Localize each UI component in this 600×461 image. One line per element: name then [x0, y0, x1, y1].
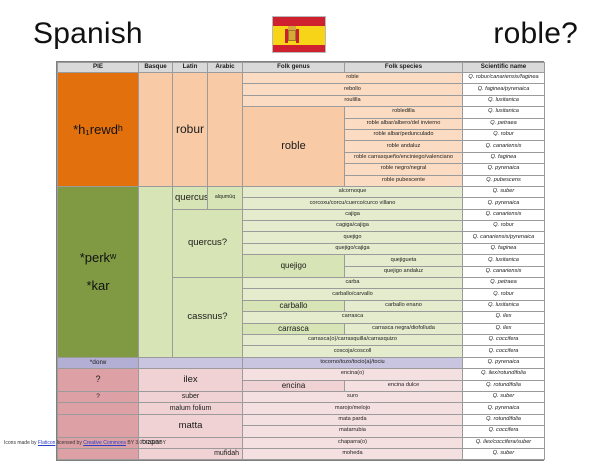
folk-species-cell: roble albar/albero/del invierno: [345, 118, 463, 129]
page-header: Spanish roble?: [0, 0, 600, 58]
arabic-cell-alqurnuq: alqurnūq: [208, 186, 243, 209]
folk-species-cell: chaparra(o): [243, 437, 463, 448]
scientific-name-cell: Q. robur: [463, 289, 545, 300]
arabic-cell-mufidah: mufidah: [139, 448, 243, 459]
spain-flag-icon: [272, 16, 326, 53]
folk-species-cell: roble andaluz: [345, 141, 463, 152]
column-header-arabic: Arabic: [208, 63, 243, 73]
latin-cell-suber: suber: [139, 391, 243, 402]
latin-cell-quercus-q: quercus?: [173, 209, 243, 277]
basque-cell-empty: [139, 186, 173, 357]
coat-of-arms-icon: [285, 29, 299, 43]
folk-species-cell: quejigueta: [345, 255, 463, 266]
scientific-name-cell: Q. pyrenaica: [463, 198, 545, 209]
folk-species-cell: coscoja/coscoll: [243, 346, 463, 357]
scientific-name-cell: Q. faginea: [463, 243, 545, 254]
scientific-name-cell: Q. coccifera: [463, 426, 545, 437]
scientific-name-cell: Q. canariensis: [463, 141, 545, 152]
pie-root-cell-empty: [58, 403, 139, 414]
column-header-folk-species: Folk species: [345, 63, 463, 73]
column-header-folk-genus: Folk genus: [243, 63, 345, 73]
page-title-language: Spanish: [33, 17, 143, 51]
scientific-name-cell: Q. canariensis: [463, 209, 545, 220]
scientific-name-cell: Q. coccifera: [463, 334, 545, 345]
scientific-name-cell: Q. pubescens: [463, 175, 545, 186]
folk-species-cell: alcornoque: [243, 186, 463, 197]
footer-middle: licensed by: [55, 440, 83, 446]
scientific-name-cell: Q. ilex/rotundifolia: [463, 369, 545, 380]
folk-genus-cell: carrasca: [243, 323, 345, 334]
folk-species-cell: quejigo: [243, 232, 463, 243]
pie-root-cell-empty: [58, 414, 139, 437]
latin-cell-matta: matta: [139, 414, 243, 437]
footer-prefix: Icons made by: [4, 440, 38, 446]
column-header-basque: Basque: [139, 63, 173, 73]
table-row: *h₁rewdʰ robur roble Q. robur/canariensi…: [58, 73, 545, 84]
folk-species-cell: robledilla: [345, 107, 463, 118]
basque-cell-empty: [139, 73, 173, 187]
folk-genus-cell: carballo: [243, 300, 345, 311]
table-row: *dorw tocorno/tozo/tocio(a)/tociu Q. pyr…: [58, 357, 545, 368]
scientific-name-cell: Q. lusitanica: [463, 95, 545, 106]
folk-species-cell: matarrubia: [243, 426, 463, 437]
pie-root-cell: ?: [58, 391, 139, 402]
folk-species-cell: cagiga/cajiga: [243, 221, 463, 232]
scientific-name-cell: Q. coccifera: [463, 346, 545, 357]
folk-species-cell: carballo/carvallo: [243, 289, 463, 300]
folk-species-cell: marojo/melojo: [243, 403, 463, 414]
flag-yellow-band: [273, 26, 325, 45]
scientific-name-cell: Q. lusitanica: [463, 300, 545, 311]
arabic-cell-empty: [208, 73, 243, 187]
scientific-name-cell: Q. lusitanica: [463, 255, 545, 266]
scientific-name-cell: Q. faginea: [463, 152, 545, 163]
table-row: malum folium marojo/melojo Q. pyrenaica: [58, 403, 545, 414]
latin-cell: robur: [173, 73, 208, 187]
pie-root-perkw: *perkʷ: [60, 251, 136, 265]
column-header-latin: Latin: [173, 63, 208, 73]
scientific-name-cell: Q. faginea/pyrenaica: [463, 84, 545, 95]
scientific-name-cell: Q. pyrenaica: [463, 403, 545, 414]
scientific-name-cell: Q. robur/canariensis/faginea: [463, 73, 545, 84]
pie-root-kar: *kar: [60, 279, 136, 293]
pie-root-cell: *perkʷ *kar: [58, 186, 139, 357]
pie-root-cell: *h₁rewdʰ: [58, 73, 139, 187]
folk-species-cell: cajiga: [243, 209, 463, 220]
pillar-right: [296, 29, 299, 43]
folk-species-cell: quejigo/cajiga: [243, 243, 463, 254]
footer-suffix: BY 3.0CC 3.0 BY: [126, 440, 166, 446]
folk-species-cell: corcoxu/corcu/cuerco/curco villano: [243, 198, 463, 209]
scientific-name-cell: Q. suber: [463, 186, 545, 197]
table-row: *perkʷ *kar quercus alqurnūq alcornoque …: [58, 186, 545, 197]
attribution-footer: Icons made by Flaticon licensed by Creat…: [4, 440, 166, 446]
etymology-table: PIE Basque Latin Arabic Folk genus Folk …: [56, 61, 544, 461]
folk-species-cell: moheda: [243, 448, 463, 459]
scientific-name-cell: Q. pyrenaica: [463, 164, 545, 175]
folk-species-cell: carrasca negra/diofolluda: [345, 323, 463, 334]
table-row: ? ilex encina(o) Q. ilex/rotundifolia: [58, 369, 545, 380]
folk-species-cell: mata parda: [243, 414, 463, 425]
scientific-name-cell: Q. robur: [463, 129, 545, 140]
folk-species-cell: roulilla: [243, 95, 463, 106]
scientific-name-cell: Q. canariensis/pyrenaica: [463, 232, 545, 243]
folk-genus-cell: roble: [243, 107, 345, 187]
folk-genus-cell: encina: [243, 380, 345, 391]
scientific-name-cell: Q. suber: [463, 448, 545, 459]
pie-root-cell: ?: [58, 369, 139, 392]
folk-species-cell: encina dulce: [345, 380, 463, 391]
folk-species-cell: quejigo andaluz: [345, 266, 463, 277]
scientific-name-cell: Q. rotundifolia: [463, 414, 545, 425]
latin-cell-quercus: quercus: [173, 186, 208, 209]
folk-species-cell: carballo enano: [345, 300, 463, 311]
folk-species-cell: carrasca(o)/carrasquilla/carrasquizo: [243, 334, 463, 345]
folk-species-cell: roble negro/negral: [345, 164, 463, 175]
scientific-name-cell: Q. canariensis: [463, 266, 545, 277]
latin-cell-malum-folium: malum folium: [139, 403, 243, 414]
scientific-name-cell: Q. suber: [463, 391, 545, 402]
latin-cell-ilex: ilex: [139, 369, 243, 392]
folk-species-cell: roble: [243, 73, 463, 84]
folk-species-cell: encina(o): [243, 369, 463, 380]
latin-cell-cassnus: cassnus?: [173, 278, 243, 358]
creative-commons-link[interactable]: Creative Commons: [83, 440, 126, 446]
pie-root-cell: *dorw: [58, 357, 139, 368]
table-row: ? suber suro Q. suber: [58, 391, 545, 402]
folk-species-cell: tocorno/tozo/tocio(a)/tociu: [243, 357, 463, 368]
folk-species-cell: carrasca: [243, 312, 463, 323]
folk-species-cell: roble albar/pedunculado: [345, 129, 463, 140]
scientific-name-cell: Q. ilex: [463, 312, 545, 323]
flaticon-link[interactable]: Flaticon: [38, 440, 56, 446]
page-title-word: roble?: [493, 17, 578, 51]
table-header-row: PIE Basque Latin Arabic Folk genus Folk …: [58, 63, 545, 73]
scientific-name-cell: Q. petraea: [463, 118, 545, 129]
table-row: matta mata parda Q. rotundifolia: [58, 414, 545, 425]
scientific-name-cell: Q. pyrenaica: [463, 357, 545, 368]
shield-shape: [288, 30, 296, 41]
scientific-name-cell: Q. petraea: [463, 278, 545, 289]
folk-species-cell: suro: [243, 391, 463, 402]
folk-species-cell: carba: [243, 278, 463, 289]
table-row: mufidah moheda Q. suber: [58, 448, 545, 459]
scientific-name-cell: Q. ilex: [463, 323, 545, 334]
folk-genus-cell: quejigo: [243, 255, 345, 278]
pie-root-cell-empty: [58, 448, 139, 459]
scientific-name-cell: Q. lusitanica: [463, 107, 545, 118]
folk-species-cell: roble carrasqueño/enciniego/valenciano: [345, 152, 463, 163]
scientific-name-cell: Q. robur: [463, 221, 545, 232]
scientific-name-cell: Q. rotundifolia: [463, 380, 545, 391]
column-header-scientific-name: Scientific name: [463, 63, 545, 73]
folk-species-cell: rebollo: [243, 84, 463, 95]
latin-cell-empty: [139, 357, 243, 368]
scientific-name-cell: Q. ilex/coccifera/suber: [463, 437, 545, 448]
column-header-pie: PIE: [58, 63, 139, 73]
folk-species-cell: roble pubescente: [345, 175, 463, 186]
